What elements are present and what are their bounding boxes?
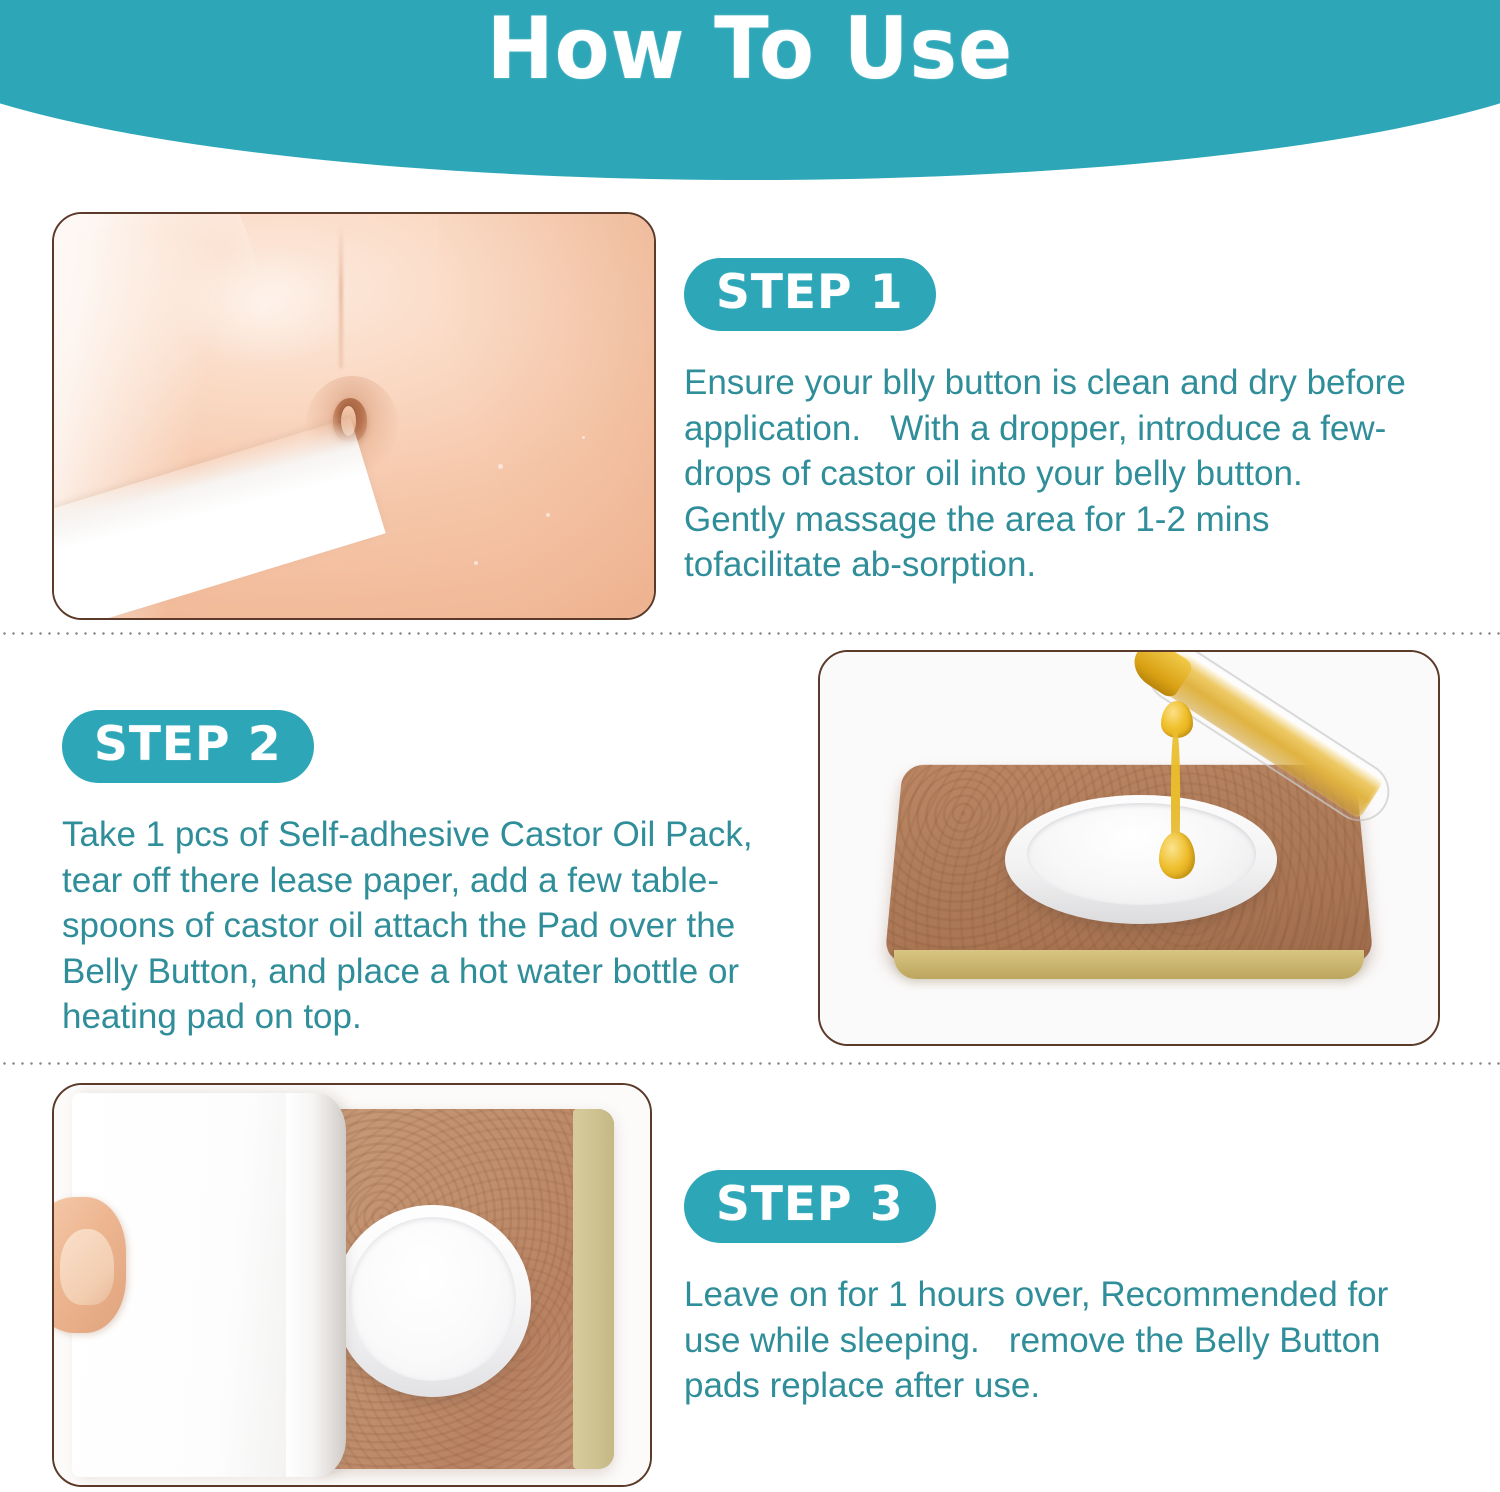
step-2-description: Take 1 pcs of Self-adhesive Castor Oil P… (62, 812, 772, 1040)
pad-white-disc-inner (349, 1217, 516, 1381)
belly-midline (339, 222, 343, 367)
step-2-photo (818, 650, 1440, 1046)
pad-white-disc-inner (1027, 803, 1256, 905)
step-3-photo (52, 1083, 652, 1487)
pad-adhesive-edge (573, 1109, 615, 1469)
step-3-description: Leave on for 1 hours over, Recommended f… (684, 1272, 1424, 1409)
pad-adhesive-liner-edge (894, 950, 1364, 979)
step-1-photo (52, 212, 656, 620)
release-paper-curl (286, 1093, 346, 1477)
step-3-badge: STEP 3 (684, 1170, 936, 1243)
thumbnail (60, 1229, 114, 1305)
step-1-badge: STEP 1 (684, 258, 936, 331)
header-banner: How To Use (0, 0, 1500, 180)
step-2-badge: STEP 2 (62, 710, 314, 783)
step-1-description: Ensure your blly button is clean and dry… (684, 360, 1424, 588)
skin-fleck (546, 513, 550, 517)
oil-drop-falling (1159, 832, 1195, 879)
page-title: How To Use (0, 6, 1500, 92)
step-1-text-block: STEP 1 Ensure your blly button is clean … (684, 258, 1424, 588)
step-2-text-block: STEP 2 Take 1 pcs of Self-adhesive Casto… (62, 710, 772, 1040)
divider-1 (0, 632, 1500, 635)
how-to-use-infographic: How To Use STEP 1 Ensure your blly butto… (0, 0, 1500, 1492)
step-3-text-block: STEP 3 Leave on for 1 hours over, Recomm… (684, 1170, 1424, 1409)
divider-2 (0, 1062, 1500, 1065)
belly-right-shading (438, 212, 656, 620)
